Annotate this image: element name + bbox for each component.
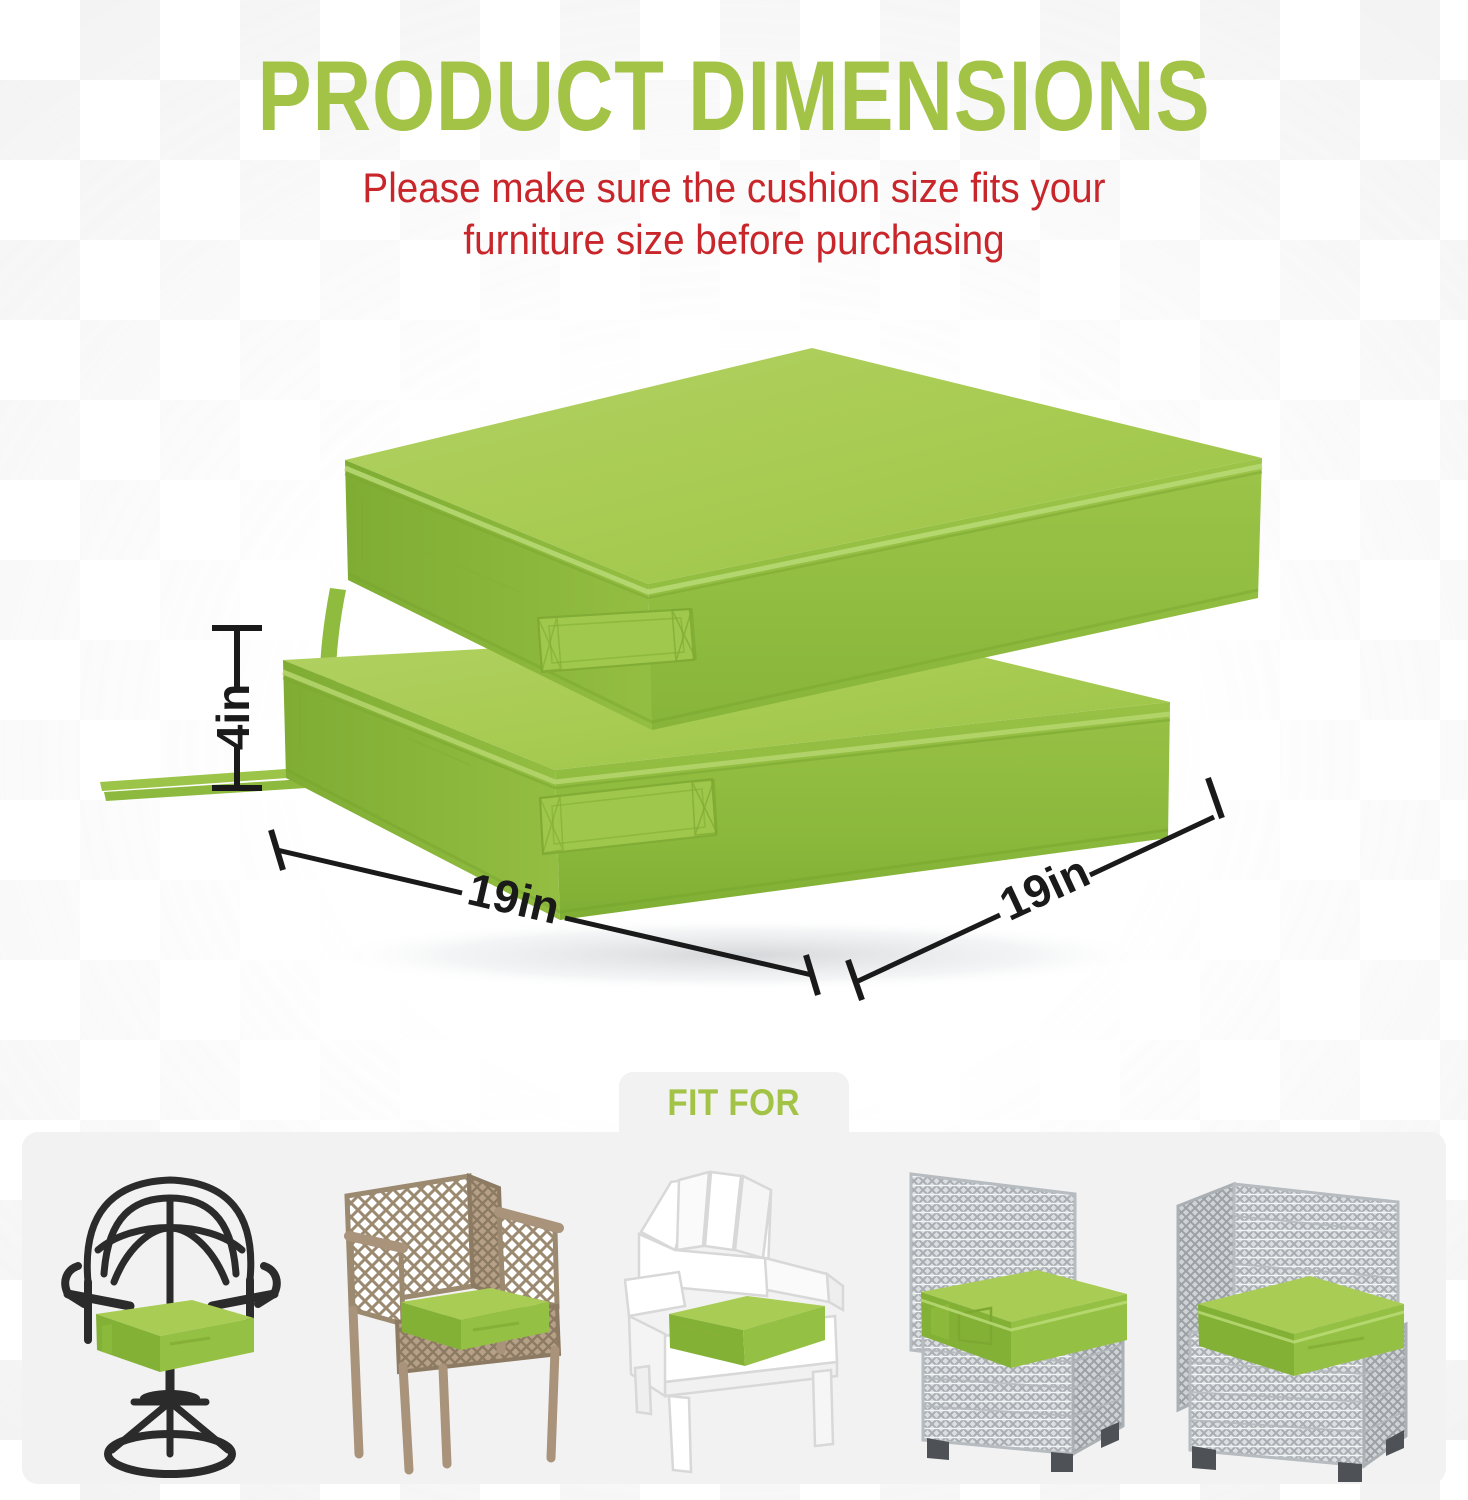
fit-item-metal-swivel-rocker-chair (42, 1154, 300, 1484)
subtitle-line-2: furniture size before purchasing (59, 214, 1410, 266)
fit-for-label: FIT FOR (668, 1082, 801, 1124)
page-title: PRODUCT DIMENSIONS (132, 44, 1336, 148)
green-cushion (96, 1300, 254, 1372)
fit-for-tab: FIT FOR (619, 1072, 849, 1134)
dimension-height-label: 4in (207, 684, 259, 750)
fit-for-item-list (22, 1132, 1446, 1484)
fit-item-brown-wicker-dining-chair (323, 1154, 581, 1484)
header: PRODUCT DIMENSIONS Please make sure the … (0, 44, 1468, 266)
fit-item-gray-wicker-armless-sectional (887, 1154, 1145, 1484)
fit-for-section: FIT FOR (0, 1072, 1468, 1500)
fit-item-white-adirondack-chair (605, 1154, 863, 1484)
subtitle-line-1: Please make sure the cushion size fits y… (59, 162, 1410, 214)
product-dimension-illustration: 4in 19in 19in (0, 330, 1468, 1050)
fit-item-gray-wicker-corner-sectional (1168, 1154, 1426, 1484)
page-subtitle: Please make sure the cushion size fits y… (59, 162, 1410, 266)
carry-handle-strap-top (538, 609, 696, 672)
product-shadow (320, 919, 1160, 991)
